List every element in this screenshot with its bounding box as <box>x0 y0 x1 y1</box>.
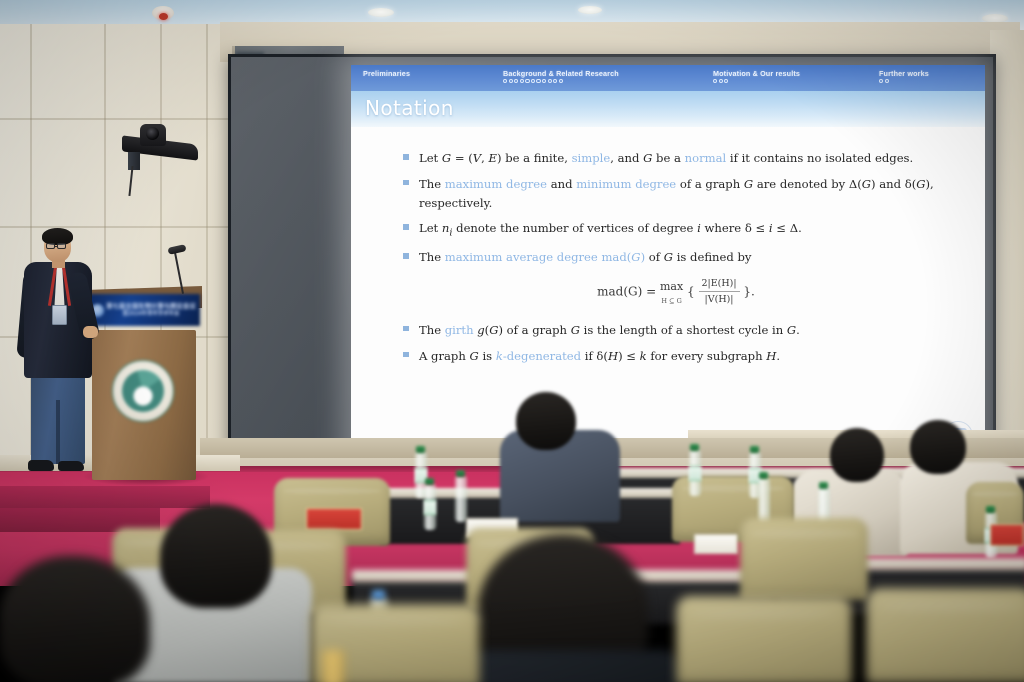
wall-panel-line <box>0 118 232 120</box>
presenter-shoe <box>28 460 54 471</box>
bottle-label <box>424 500 436 515</box>
bullet-marker <box>403 154 409 160</box>
formula-eq: = <box>646 284 656 298</box>
podium-banner: 第七届全国生物计算与图论会议 暨2024年青年学术年会 <box>88 294 200 326</box>
bottle-cap <box>372 590 385 600</box>
wall-panel-line <box>206 24 208 464</box>
water-bottle <box>455 476 467 522</box>
list-item: Let G = (V, E) be a finite, simple, and … <box>403 149 949 168</box>
nav-section-motivation[interactable]: Motivation & Our results <box>713 69 800 83</box>
page-title: Notation <box>365 96 454 120</box>
bullet-marker <box>403 224 409 230</box>
bottle-label <box>689 466 701 481</box>
camera-wall-bracket <box>128 152 140 170</box>
banner-text: 第七届全国生物计算与图论会议 暨2024年青年学术年会 <box>104 302 200 319</box>
bottle-cap <box>416 446 425 453</box>
banner-line-1: 第七届全国生物计算与图论会议 <box>106 302 195 310</box>
list-item: Let ni denote the number of vertices of … <box>403 219 949 241</box>
name-card <box>694 534 738 554</box>
bottle-cap <box>986 506 995 513</box>
smoke-detector-led <box>159 13 168 20</box>
bottle-cap <box>759 472 768 479</box>
bottle-cap <box>425 478 434 485</box>
podium-emblem-icon <box>112 360 174 422</box>
name-card <box>990 524 1024 546</box>
bottle-cap <box>750 446 759 453</box>
presentation-slide: Preliminaries Background & Related Resea… <box>351 65 985 461</box>
bullet-text-max-min-degree: The maximum degree and minimum degree of… <box>419 177 934 210</box>
list-item: The maximum average degree mad(G) of G i… <box>403 248 949 267</box>
formula-trailing: . <box>751 284 755 298</box>
emblem-inner <box>122 370 164 412</box>
audience-person-head <box>830 428 884 482</box>
bullet-text-mad: The maximum average degree mad(G) of G i… <box>419 250 751 264</box>
formula-denominator: |V(H)| <box>699 292 740 307</box>
bullet-marker <box>403 253 409 259</box>
presenter-hand <box>83 326 98 338</box>
nav-label: Background & Related Research <box>503 69 619 78</box>
presenter-shoe <box>58 461 84 471</box>
formula-max-subscript: H ⊆ G <box>660 296 683 307</box>
projection-screen[interactable]: Preliminaries Background & Related Resea… <box>228 54 996 466</box>
formula-numerator: 2|E(H)| <box>699 276 740 292</box>
bottle-cap <box>690 444 699 451</box>
audience-chair <box>676 596 852 682</box>
eyeglasses-bridge <box>55 246 58 247</box>
bullet-text-n-i: Let ni denote the number of vertices of … <box>419 221 802 235</box>
bullet-text-girth: The girth g(G) of a graph G is the lengt… <box>419 323 800 337</box>
name-card <box>306 508 362 530</box>
audience-person-head <box>910 420 966 474</box>
list-item: A graph G is k-degenerated if δ(H) ≤ k f… <box>403 347 949 366</box>
audience-person-head <box>0 556 150 682</box>
audience-person-head <box>516 392 576 450</box>
formula-brace-open: { <box>687 284 695 298</box>
formula-brace-close: } <box>743 284 751 298</box>
nav-section-further-works[interactable]: Further works <box>879 69 929 83</box>
nav-label: Motivation & Our results <box>713 69 800 78</box>
formula-max-label: max <box>660 278 683 296</box>
bullet-text-simple-normal: Let G = (V, E) be a finite, simple, and … <box>419 151 913 165</box>
ceiling-light <box>578 6 602 14</box>
bullet-text-degenerate: A graph G is k-degenerated if δ(H) ≤ k f… <box>419 349 780 363</box>
stage-step <box>0 486 210 508</box>
bullet-marker <box>403 326 409 332</box>
nav-label: Further works <box>879 69 929 78</box>
bottle-cap <box>819 482 828 489</box>
nav-dots <box>503 79 619 83</box>
list-item: The maximum degree and minimum degree of… <box>403 175 949 213</box>
banner-line-2: 暨2024年青年学术年会 <box>104 311 198 319</box>
presenter-badge <box>52 305 67 325</box>
camera-lens-icon <box>146 127 159 140</box>
formula-fraction: 2|E(H)| |V(H)| <box>699 276 740 308</box>
wall-panel-line <box>0 226 232 228</box>
nav-label: Preliminaries <box>363 69 410 78</box>
formula-lhs: mad(G) <box>597 284 642 298</box>
water-bottle <box>322 650 344 682</box>
slide-nav-bar: Preliminaries Background & Related Resea… <box>351 65 985 91</box>
bullet-marker <box>403 180 409 186</box>
nav-dots <box>879 79 929 83</box>
presenter-leg-gap <box>56 400 60 464</box>
nav-section-background[interactable]: Background & Related Research <box>503 69 619 83</box>
eyeglasses-icon <box>46 243 55 249</box>
audience-chair <box>866 588 1024 682</box>
bullet-marker <box>403 352 409 358</box>
mad-formula: mad(G) = max H ⊆ G { 2|E(H)| |V(H)| }. <box>403 276 949 308</box>
nav-section-preliminaries[interactable]: Preliminaries <box>363 69 410 79</box>
eyeglasses-icon <box>57 243 66 249</box>
nav-dots <box>713 79 800 83</box>
list-item: The girth g(G) of a graph G is the lengt… <box>403 321 949 340</box>
slide-body: Let G = (V, E) be a finite, simple, and … <box>351 129 985 461</box>
audience-chair <box>740 518 868 600</box>
bottle-cap <box>456 470 465 477</box>
conference-room-scene: Preliminaries Background & Related Resea… <box>0 0 1024 682</box>
formula-max-operator: max H ⊆ G <box>660 278 683 306</box>
ceiling-light <box>368 8 394 17</box>
audience-person-head <box>160 504 272 608</box>
